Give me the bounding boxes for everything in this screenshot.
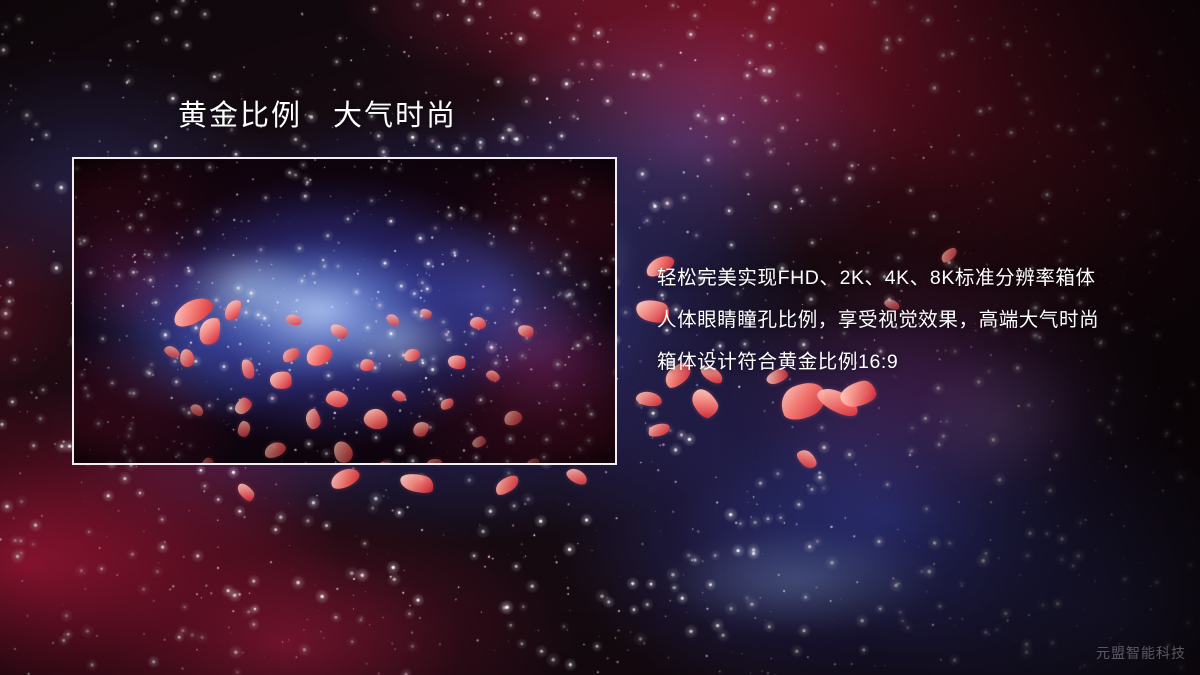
watermark: 元盟智能科技 <box>1096 643 1186 663</box>
framed-image-panel <box>72 157 617 465</box>
body-line-3: 箱体设计符合黄金比例16:9 <box>657 341 1157 383</box>
body-line-2: 人体眼睛瞳孔比例，享受视觉效果，高端大气时尚 <box>657 299 1157 341</box>
body-copy: 轻松完美实现FHD、2K、4K、8K标准分辨率箱体 人体眼睛瞳孔比例，享受视觉效… <box>657 257 1157 383</box>
framed-image-content <box>74 159 615 463</box>
slide-canvas: 黄金比例 大气时尚 轻松完美实现FHD、2K、4K、8K标准分辨率箱体 人体眼睛… <box>0 0 1200 675</box>
body-line-1: 轻松完美实现FHD、2K、4K、8K标准分辨率箱体 <box>657 257 1157 299</box>
panel-vignette <box>74 159 615 463</box>
page-title: 黄金比例 大气时尚 <box>178 101 457 133</box>
